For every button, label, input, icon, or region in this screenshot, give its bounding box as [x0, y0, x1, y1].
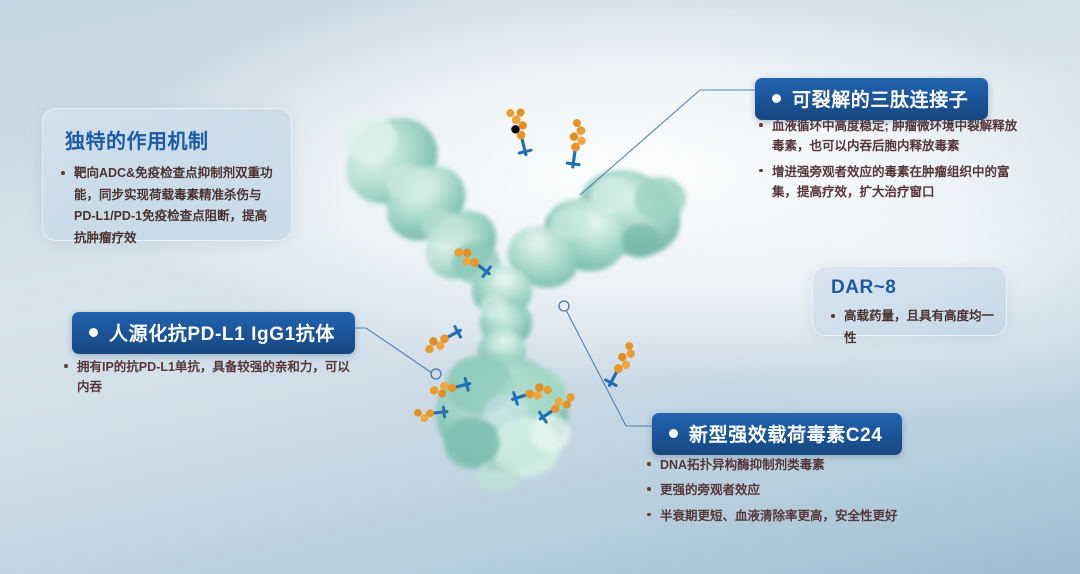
- panel-dar-bullets: 高载药量，且具有高度均一性: [829, 306, 1001, 349]
- badge-linker[interactable]: 可裂解的三肽连接子: [755, 78, 988, 120]
- list-item: 靶向ADC&免疫检查点抑制剂双重功能，同步实现荷载毒素精准杀伤与PD-L1/PD…: [59, 163, 277, 249]
- list-item: 增进强旁观者效应的毒素在肿瘤组织中的富集，提高疗效，扩大治疗窗口: [757, 162, 1029, 203]
- badge-linker-label: 可裂解的三肽连接子: [792, 85, 968, 112]
- bullet-dot-icon: [772, 94, 781, 103]
- panel-dar: DAR~8 高载药量，且具有高度均一性: [812, 266, 1007, 336]
- list-item: 高载药量，且具有高度均一性: [829, 306, 1001, 349]
- fab-arm-right: [499, 154, 694, 297]
- bullets-linker: 血液循环中高度稳定; 肿瘤微环境中裂解释放毒素，也可以内吞后胞内释放毒素 增进强…: [757, 116, 1029, 202]
- panel-dar-title: DAR~8: [831, 277, 896, 299]
- badge-antibody[interactable]: 人源化抗PD-L1 IgG1抗体: [72, 312, 355, 354]
- list-item: 更强的旁观者效应: [645, 480, 935, 500]
- bullet-dot-icon: [669, 429, 678, 438]
- bullets-payload: DNA拓扑异构酶抑制剂类毒素 更强的旁观者效应 半衰期更短、血液清除率更高，安全…: [645, 455, 935, 526]
- badge-payload-label: 新型强效载荷毒素C24: [689, 420, 882, 447]
- bullet-dot-icon: [89, 328, 98, 337]
- badge-payload[interactable]: 新型强效载荷毒素C24: [652, 413, 902, 455]
- panel-mechanism: 独特的作用机制 靶向ADC&免疫检查点抑制剂双重功能，同步实现荷载毒素精准杀伤与…: [42, 108, 292, 241]
- adc-diagram-canvas: 独特的作用机制 靶向ADC&免疫检查点抑制剂双重功能，同步实现荷载毒素精准杀伤与…: [0, 0, 1080, 574]
- bullets-antibody: 拥有IP的抗PD-L1单抗，具备较强的亲和力，可以内吞: [62, 357, 362, 398]
- list-item: DNA拓扑异构酶抑制剂类毒素: [645, 455, 935, 475]
- list-item: 半衰期更短、血液清除率更高，安全性更好: [645, 506, 935, 526]
- list-item: 拥有IP的抗PD-L1单抗，具备较强的亲和力，可以内吞: [62, 357, 362, 398]
- badge-antibody-label: 人源化抗PD-L1 IgG1抗体: [109, 319, 335, 346]
- panel-mechanism-title: 独特的作用机制: [65, 125, 209, 154]
- list-item: 血液循环中高度稳定; 肿瘤微环境中裂解释放毒素，也可以内吞后胞内释放毒素: [757, 116, 1029, 157]
- fab-arm-left: [330, 100, 510, 293]
- panel-mechanism-bullets: 靶向ADC&免疫检查点抑制剂双重功能，同步实现荷载毒素精准杀伤与PD-L1/PD…: [59, 163, 277, 249]
- fc-region: [436, 355, 570, 491]
